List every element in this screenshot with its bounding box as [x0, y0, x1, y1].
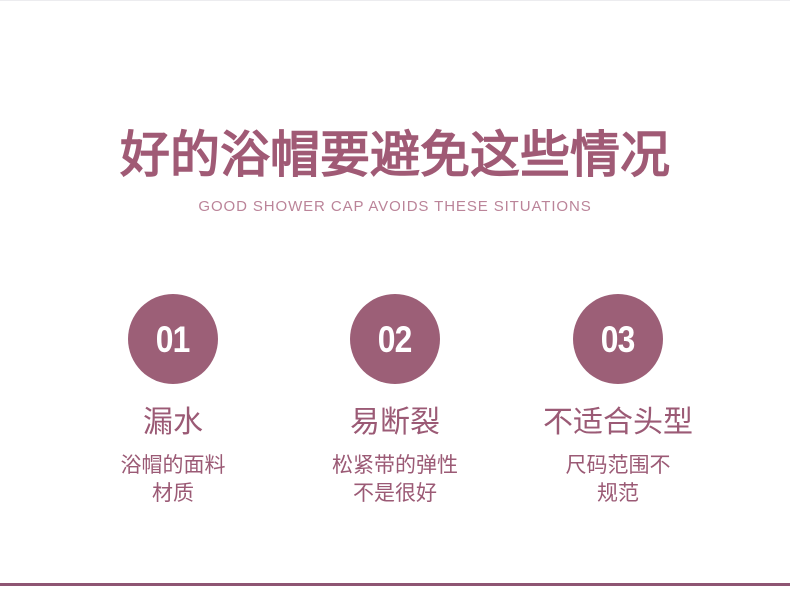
badge-circle-01: 01: [128, 294, 218, 384]
badge-number-02: 02: [378, 321, 412, 358]
item-heading-02: 易断裂: [280, 404, 510, 442]
page-title: 好的浴帽要避免这些情况: [0, 124, 790, 186]
item-description-02: 松紧带的弹性 不是很好: [280, 452, 510, 508]
item-card-02: 02 易断裂 松紧带的弹性 不是很好: [280, 294, 510, 508]
item-description-03: 尺码范围不 规范: [503, 452, 733, 508]
page-subtitle: GOOD SHOWER CAP AVOIDS THESE SITUATIONS: [0, 197, 790, 217]
item-description-02-line-2: 不是很好: [280, 480, 510, 508]
header-block: 好的浴帽要避免这些情况 GOOD SHOWER CAP AVOIDS THESE…: [0, 124, 790, 217]
item-card-03: 03 不适合头型 尺码范围不 规范: [503, 294, 733, 508]
item-description-01: 浴帽的面料 材质: [58, 452, 288, 508]
badge-circle-02: 02: [350, 294, 440, 384]
item-description-01-line-2: 材质: [58, 480, 288, 508]
badge-number-01: 01: [156, 321, 190, 358]
top-hairline-divider: [0, 0, 790, 1]
items-row: 01 漏水 浴帽的面料 材质 02 易断裂 松紧带的弹性 不是很好 03 不适合…: [0, 294, 790, 534]
item-card-01: 01 漏水 浴帽的面料 材质: [58, 294, 288, 508]
item-description-02-line-1: 松紧带的弹性: [280, 452, 510, 480]
badge-number-03: 03: [601, 321, 635, 358]
item-heading-03: 不适合头型: [503, 404, 733, 442]
item-description-03-line-2: 规范: [503, 480, 733, 508]
bottom-divider-rule: [0, 583, 790, 586]
item-description-01-line-1: 浴帽的面料: [58, 452, 288, 480]
infographic-canvas: 好的浴帽要避免这些情况 GOOD SHOWER CAP AVOIDS THESE…: [0, 0, 790, 589]
badge-circle-03: 03: [573, 294, 663, 384]
item-heading-01: 漏水: [58, 404, 288, 442]
item-description-03-line-1: 尺码范围不: [503, 452, 733, 480]
